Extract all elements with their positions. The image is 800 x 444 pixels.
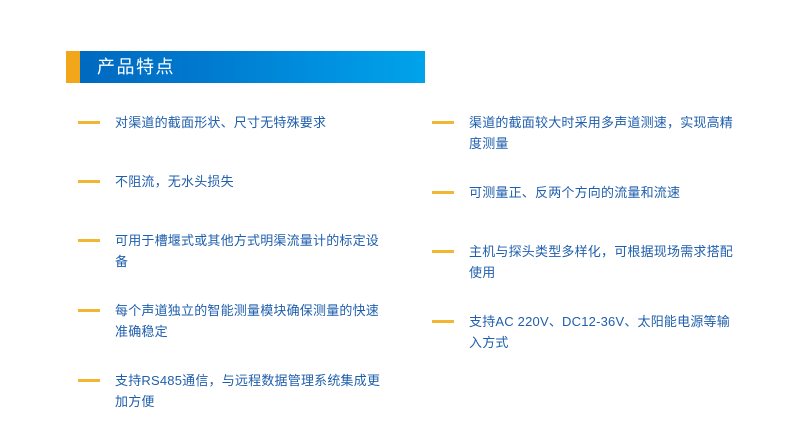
dash-bullet-icon bbox=[78, 180, 100, 183]
feature-text: 渠道的截面较大时采用多声道测速，实现高精度测量 bbox=[469, 112, 742, 154]
dash-bullet-icon bbox=[432, 250, 454, 253]
section-header: 产品特点 bbox=[66, 51, 425, 83]
list-item: 对渠道的截面形状、尺寸无特殊要求 bbox=[78, 112, 388, 133]
feature-text: 可测量正、反两个方向的流量和流速 bbox=[469, 182, 742, 203]
list-item: 不阻流，无水头损失 bbox=[78, 171, 388, 192]
feature-column-left: 对渠道的截面形状、尺寸无特殊要求 不阻流，无水头损失 可用于槽堰式或其他方式明渠… bbox=[78, 112, 388, 444]
feature-text: 每个声道独立的智能测量模块确保测量的快速准确稳定 bbox=[115, 300, 388, 342]
list-item: 主机与探头类型多样化，可根据现场需求搭配使用 bbox=[432, 241, 742, 283]
list-item: 可用于槽堰式或其他方式明渠流量计的标定设备 bbox=[78, 230, 388, 272]
feature-text: 对渠道的截面形状、尺寸无特殊要求 bbox=[115, 112, 388, 133]
feature-column-right: 渠道的截面较大时采用多声道测速，实现高精度测量 可测量正、反两个方向的流量和流速… bbox=[432, 112, 742, 385]
features-content: 对渠道的截面形状、尺寸无特殊要求 不阻流，无水头损失 可用于槽堰式或其他方式明渠… bbox=[0, 112, 800, 412]
feature-text: 支持RS485通信，与远程数据管理系统集成更加方便 bbox=[115, 370, 388, 412]
list-item: 可测量正、反两个方向的流量和流速 bbox=[432, 182, 742, 203]
header-gradient-bar: 产品特点 bbox=[80, 51, 425, 83]
dash-bullet-icon bbox=[78, 309, 100, 312]
dash-bullet-icon bbox=[78, 379, 100, 382]
dash-bullet-icon bbox=[78, 239, 100, 242]
list-item: 每个声道独立的智能测量模块确保测量的快速准确稳定 bbox=[78, 300, 388, 342]
dash-bullet-icon bbox=[432, 320, 454, 323]
dash-bullet-icon bbox=[78, 121, 100, 124]
feature-text: 不阻流，无水头损失 bbox=[115, 171, 388, 192]
list-item: 渠道的截面较大时采用多声道测速，实现高精度测量 bbox=[432, 112, 742, 154]
header-accent-bar bbox=[66, 51, 80, 83]
list-item: 支持AC 220V、DC12-36V、太阳能电源等输入方式 bbox=[432, 311, 742, 353]
dash-bullet-icon bbox=[432, 191, 454, 194]
feature-text: 主机与探头类型多样化，可根据现场需求搭配使用 bbox=[469, 241, 742, 283]
list-item: 支持RS485通信，与远程数据管理系统集成更加方便 bbox=[78, 370, 388, 412]
feature-text: 支持AC 220V、DC12-36V、太阳能电源等输入方式 bbox=[469, 311, 742, 353]
feature-text: 可用于槽堰式或其他方式明渠流量计的标定设备 bbox=[115, 230, 388, 272]
page-title: 产品特点 bbox=[80, 58, 175, 76]
dash-bullet-icon bbox=[432, 121, 454, 124]
